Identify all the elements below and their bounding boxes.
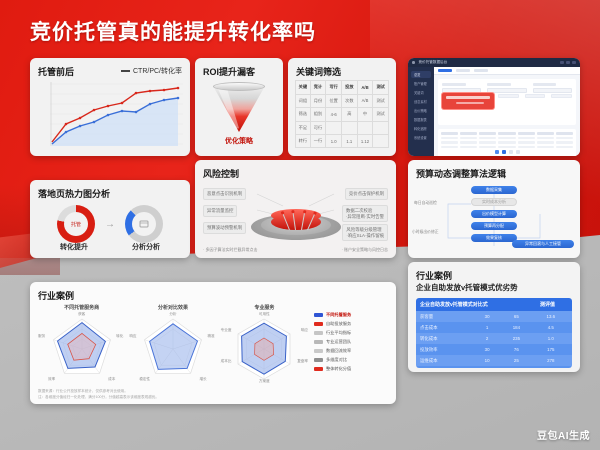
legend-label: CTR/PC/转化率 bbox=[133, 66, 182, 76]
radar-footnote-2: 注：各维度分值经归一化处理，满分100分，分值越高表示该维度表现越优。 bbox=[38, 395, 388, 400]
table-cell bbox=[358, 122, 374, 135]
field-input[interactable] bbox=[487, 88, 526, 93]
table-cell: 获客量 bbox=[420, 314, 475, 320]
radar-axis-label-2-1: 响应 bbox=[301, 328, 308, 333]
table-row: 获客量 30 65 13.6 bbox=[416, 311, 572, 322]
table-row: 词组 月份 位置 次数 A/B 测试 bbox=[295, 94, 389, 108]
funnel-title: ROI提升漏客 bbox=[203, 65, 255, 78]
funnel-caption: 优化策略 bbox=[203, 136, 275, 146]
table-cell bbox=[498, 141, 515, 144]
window-dot-icon bbox=[412, 61, 415, 64]
summary-cell bbox=[525, 94, 546, 98]
heatmap-donuts: 托管 → bbox=[30, 204, 190, 244]
table-row: 关键 竞计 写行 投放 A/B 测试 bbox=[295, 80, 389, 94]
table-cell bbox=[373, 135, 389, 147]
radar-caption-1: 分析对比效果 bbox=[127, 304, 218, 311]
risk-spark-dot bbox=[280, 211, 283, 214]
maximize-icon[interactable] bbox=[566, 61, 570, 64]
card-keyword-filter: 关键词筛选 关键 竞计 写行 投放 A/B 测试 词组 月份 位置 次数 A/B… bbox=[288, 58, 396, 156]
table-cell bbox=[498, 132, 515, 135]
risk-label-left-1: 异常流量监控 bbox=[203, 205, 237, 217]
table-cell: 测试 bbox=[373, 95, 389, 108]
tab-0[interactable] bbox=[438, 69, 452, 72]
dashboard-main bbox=[434, 67, 580, 156]
legend-label: 数据回流效率 bbox=[326, 348, 351, 354]
flow-node-2: 出价模型计算 bbox=[471, 210, 517, 218]
table-row: 投放效率 30 76 175 bbox=[416, 344, 572, 355]
table-cell bbox=[556, 137, 573, 140]
table-cell bbox=[326, 122, 342, 135]
donut-chart-conversion: 托管 bbox=[57, 205, 95, 243]
table-cell: 点击成本 bbox=[420, 325, 475, 331]
legend-dash-icon bbox=[121, 70, 130, 72]
table-cell: 1.0 bbox=[326, 135, 342, 147]
page-icon bbox=[139, 220, 149, 228]
radar-axis-label-0-3: 效率 bbox=[48, 377, 55, 382]
field-label bbox=[487, 83, 511, 86]
table-cell bbox=[460, 132, 477, 135]
flow-node-0: 数据采集 bbox=[471, 186, 517, 194]
table-cell: 转化成本 bbox=[420, 336, 475, 342]
table-cell: 1.1 bbox=[342, 135, 358, 147]
legend-label: 自助投放服务 bbox=[326, 321, 351, 327]
arrow-icon: → bbox=[105, 219, 115, 230]
table-cell bbox=[537, 132, 554, 135]
radar-axis-label-2-3: 方案度 bbox=[259, 379, 270, 384]
table-row: 转行 一行 1.0 1.1 1.12 bbox=[295, 134, 389, 148]
dashboard-titlebar: 竞价托管数据后台 bbox=[408, 58, 580, 67]
table-cell bbox=[479, 137, 496, 140]
card-dashboard-mockup: 竞价托管数据后台 总览 账户管理 关键词 创意素材 出价策略 数据报表 转化追踪… bbox=[408, 58, 580, 156]
legend-swatch-icon bbox=[314, 322, 323, 327]
legend-label: 整体转化分值 bbox=[326, 366, 351, 372]
tab-2[interactable] bbox=[474, 69, 488, 72]
field-2[interactable] bbox=[533, 83, 572, 93]
radar-axis-label-0-4: 服务 bbox=[38, 334, 45, 339]
heatmap-title: 落地页热力图分析 bbox=[38, 187, 110, 200]
dashboard-summary-row bbox=[498, 94, 572, 98]
table-cell: A/B bbox=[358, 95, 374, 108]
sidebar-item-7[interactable]: 系统设置 bbox=[411, 134, 431, 141]
donut-inner-label: 托管 bbox=[64, 212, 88, 236]
heatmap-captions: 转化提升 分析分析 bbox=[30, 242, 190, 252]
radar-svg-1 bbox=[131, 314, 215, 384]
table-header-cell: 企业自助发放v托管模式对比式 bbox=[420, 301, 527, 308]
dashboard-fields bbox=[442, 83, 572, 93]
radar-title: 行业案例 bbox=[38, 289, 74, 302]
donut-chart-analysis bbox=[125, 205, 163, 243]
risk-label-left-2: 预算波动预警机制 bbox=[203, 222, 246, 234]
table-header-cell: 测评值 bbox=[527, 301, 568, 308]
tab-1[interactable] bbox=[456, 69, 470, 72]
table-cell: 转行 bbox=[295, 135, 311, 147]
donut-inner-icon bbox=[132, 212, 156, 236]
donut-caption-0: 转化提升 bbox=[50, 242, 98, 252]
radar-axis-label-1-1: 精准 bbox=[207, 334, 214, 339]
table-cell bbox=[342, 122, 358, 135]
table-cell: 30 bbox=[475, 347, 499, 353]
radar-chart-2: 专业服务 可用性 响应 复 bbox=[219, 304, 310, 386]
table-cell bbox=[556, 141, 573, 144]
radar-chart-1: 分析对比效果 分析 精准 增长 稳定 bbox=[127, 304, 218, 386]
table-cell: 1 bbox=[475, 325, 499, 331]
field-label bbox=[533, 83, 557, 86]
table-cell: 运维成本 bbox=[420, 358, 475, 364]
table-cell: 10 bbox=[475, 358, 499, 364]
radar-charts: 不同托管服务商 获客 bbox=[36, 304, 310, 386]
radar-chart-0: 不同托管服务商 获客 bbox=[36, 304, 127, 386]
field-input[interactable] bbox=[533, 88, 572, 93]
sidebar-item-4[interactable]: 出价策略 bbox=[411, 107, 431, 114]
table-cell bbox=[479, 132, 496, 135]
table-cell: 184 bbox=[499, 325, 533, 331]
dashboard-sidebar: 总览 账户管理 关键词 创意素材 出价策略 数据报表 转化追踪 系统设置 bbox=[408, 67, 434, 156]
dashboard-table bbox=[438, 129, 576, 156]
field-label bbox=[442, 83, 466, 86]
radar-footnotes: 数据来源：行业公开投放样本统计，仅供参考对比使用。 注：各维度分值经归一化处理，… bbox=[38, 389, 388, 400]
table-row: 不足 可行 bbox=[295, 121, 389, 135]
risk-stage-graphic bbox=[251, 200, 341, 240]
risk-label-left-0: 恶意点击识别机制 bbox=[203, 188, 246, 200]
flow-node-5: 异常回滚与人工接管 bbox=[512, 240, 574, 248]
table-cell: 76 bbox=[499, 347, 533, 353]
legend-label: 行业平均指标 bbox=[326, 330, 351, 336]
flow-side-label-0: 每日自动巡检 bbox=[414, 201, 437, 206]
table-row: 筛选 组别 4-6 高 中 测试 bbox=[295, 107, 389, 121]
table-cell: 4.5 bbox=[534, 325, 568, 331]
table-cell: 65 bbox=[499, 314, 533, 320]
risk-label-right-1: 数据二次校验 ·异常阻断·实时告警 bbox=[342, 205, 388, 222]
table-cell: 4-6 bbox=[326, 108, 342, 121]
table-cell: 30 bbox=[475, 314, 499, 320]
table-cell: 13.6 bbox=[534, 314, 568, 320]
sidebar-item-1[interactable]: 账户管理 bbox=[411, 80, 431, 87]
sidebar-item-0[interactable]: 总览 bbox=[411, 71, 431, 78]
poster-root: 竞价托管真的能提升转化率吗 托管前后 CTR/PC/转化率 bbox=[0, 0, 600, 450]
card-radar-cases: 行业案例 不同托管服务商 bbox=[30, 282, 396, 404]
dashboard-brand: 竞价托管数据后台 bbox=[419, 60, 448, 65]
field-input[interactable] bbox=[442, 88, 481, 93]
table-cell: 投放效率 bbox=[420, 347, 475, 353]
highlight-line-2 bbox=[456, 102, 484, 105]
page-1-button[interactable] bbox=[502, 150, 506, 154]
minimize-icon[interactable] bbox=[560, 61, 564, 64]
industry-table-title: 行业案例 bbox=[416, 269, 452, 282]
radar-svg-2 bbox=[222, 314, 306, 384]
table-cell bbox=[518, 141, 535, 144]
table-cell bbox=[556, 146, 573, 149]
table-row: 运维成本 10 25 278 bbox=[416, 355, 572, 366]
table-cell: 25 bbox=[499, 358, 533, 364]
legend-item-2: 行业平均指标 bbox=[314, 330, 388, 336]
dashboard-window-controls[interactable] bbox=[560, 61, 576, 64]
table-cell: 175 bbox=[534, 347, 568, 353]
table-cell bbox=[498, 146, 515, 149]
table-cell: 可行 bbox=[311, 122, 327, 135]
table-cell: 测试 bbox=[373, 108, 389, 121]
keyword-table: 关键 竞计 写行 投放 A/B 测试 词组 月份 位置 次数 A/B 测试 筛选… bbox=[295, 80, 389, 148]
table-cell: 235 bbox=[499, 336, 533, 342]
page-next-button[interactable] bbox=[516, 150, 520, 154]
funnel-graphic bbox=[195, 82, 283, 137]
watermark: 豆包AI生成 bbox=[537, 427, 590, 442]
line-chart-plot bbox=[50, 82, 183, 146]
table-cell: 关键 bbox=[295, 81, 311, 94]
table-cell bbox=[479, 141, 496, 144]
radar-axis-label-2-5: 专业度 bbox=[221, 328, 232, 333]
table-cell: 高 bbox=[342, 108, 358, 121]
legend-label: 专业运营团队 bbox=[326, 339, 351, 345]
table-row bbox=[441, 132, 573, 135]
radar-caption-2: 专业服务 bbox=[219, 304, 310, 311]
radar-axis-label-0-1: 转化 bbox=[116, 334, 123, 339]
table-row bbox=[441, 137, 573, 140]
table-row bbox=[441, 141, 573, 144]
risk-spark-dot bbox=[313, 211, 316, 214]
table-cell bbox=[373, 122, 389, 135]
table-cell: 测试 bbox=[373, 81, 389, 94]
card-line-chart: 托管前后 CTR/PC/转化率 bbox=[30, 58, 190, 156]
table-header-row: 企业自助发放v托管模式对比式 测评值 bbox=[416, 298, 572, 311]
sidebar-item-2[interactable]: 关键词 bbox=[411, 89, 431, 96]
flow-node-4: 效果复核 bbox=[471, 234, 517, 242]
table-cell: 278 bbox=[534, 358, 568, 364]
table-row bbox=[441, 146, 573, 149]
highlight-line-1 bbox=[446, 96, 490, 99]
legend-swatch-icon bbox=[314, 349, 323, 354]
card-budget-algorithm: 预算动态调整算法逻辑 数据采集 实时成本分析 出价模型计算 预算再分配 效果复核… bbox=[408, 160, 580, 258]
legend-swatch-icon bbox=[314, 367, 323, 372]
dashboard-highlight-block[interactable] bbox=[442, 93, 494, 109]
table-cell bbox=[441, 132, 458, 135]
page-title: 竞价托管真的能提升转化率吗 bbox=[30, 16, 316, 46]
summary-cell bbox=[551, 94, 572, 98]
legend-label: 不同托管服务 bbox=[326, 312, 351, 318]
page-2-button[interactable] bbox=[509, 150, 513, 154]
dashboard-pagination[interactable] bbox=[441, 150, 573, 154]
dashboard-filter-panel bbox=[438, 79, 576, 125]
table-cell bbox=[460, 141, 477, 144]
table-cell bbox=[556, 132, 573, 135]
risk-label-right-2: 风险等级分级管理 ·响应SLA·操作留痕 bbox=[342, 224, 388, 241]
legend-item-5: 多维度对比 bbox=[314, 357, 388, 363]
legend-item-4: 数据回流效率 bbox=[314, 348, 388, 354]
radar-axis-label-2-0: 可用性 bbox=[259, 312, 270, 317]
legend-item-0: 不同托管服务 bbox=[314, 312, 388, 318]
page-prev-button[interactable] bbox=[495, 150, 499, 154]
field-0[interactable] bbox=[442, 83, 481, 93]
table-cell: 2 bbox=[475, 336, 499, 342]
table-cell: 次数 bbox=[342, 95, 358, 108]
table-cell: 1.0 bbox=[534, 336, 568, 342]
card-risk-control: 风险控制 恶意点击识别机制 异常流量监控 预算波动预警机制 竞价点击保护机制 bbox=[195, 160, 396, 258]
radar-axis-label-1-3: 稳定性 bbox=[139, 377, 150, 382]
card-industry-table: 行业案例 企业自助发放v托管模式优劣势 企业自助发放v托管模式对比式 测评值 获… bbox=[408, 262, 580, 372]
card-roi-funnel: ROI提升漏客 优化策略 bbox=[195, 58, 283, 156]
risk-spark-dot bbox=[291, 210, 294, 213]
radar-caption-0: 不同托管服务商 bbox=[36, 304, 127, 311]
radar-axis-label-1-0: 分析 bbox=[169, 312, 176, 317]
table-cell bbox=[460, 146, 477, 149]
flow-node-1: 实时成本分析 bbox=[471, 198, 517, 206]
table-cell bbox=[441, 146, 458, 149]
radar-axis-label-1-2: 增长 bbox=[199, 377, 206, 382]
sidebar-item-5[interactable]: 数据报表 bbox=[411, 116, 431, 123]
radar-axis-label-0-0: 获客 bbox=[78, 312, 85, 317]
dashboard-tabs bbox=[434, 67, 580, 75]
table-cell bbox=[479, 146, 496, 149]
line-chart-legend: CTR/PC/转化率 bbox=[121, 66, 182, 76]
radar-axis-label-1-4: 响应 bbox=[129, 334, 136, 339]
table-cell: 筛选 bbox=[295, 108, 311, 121]
legend-swatch-icon bbox=[314, 358, 323, 363]
radar-legend: 不同托管服务 自助投放服务 行业平均指标 专业运营团队 数据回流效率 多维度对比 bbox=[314, 312, 388, 375]
table-cell bbox=[441, 137, 458, 140]
table-cell: 竞计 bbox=[311, 81, 327, 94]
table-row: 综合评分 12 88 1.84 bbox=[416, 366, 572, 368]
budget-title: 预算动态调整算法逻辑 bbox=[416, 167, 506, 180]
flow-side-label-1: 小时级出价修正 bbox=[412, 230, 439, 235]
summary-cell bbox=[498, 94, 519, 98]
table-cell: 月份 bbox=[311, 95, 327, 108]
field-1[interactable] bbox=[487, 83, 526, 93]
table-cell: 一行 bbox=[311, 135, 327, 147]
table-cell: 位置 bbox=[326, 95, 342, 108]
line-chart-svg bbox=[50, 82, 183, 146]
risk-footer-left: · 多因子算法实时拦截异常点击 bbox=[203, 247, 257, 253]
legend-swatch-icon bbox=[314, 313, 323, 318]
risk-footer-right: · 账户安全策略与风控日志 bbox=[342, 247, 388, 253]
sidebar-item-6[interactable]: 转化追踪 bbox=[411, 125, 431, 132]
close-icon[interactable] bbox=[572, 61, 576, 64]
industry-table: 企业自助发放v托管模式对比式 测评值 获客量 30 65 13.6 点击成本 1… bbox=[416, 298, 572, 368]
risk-spark-dot bbox=[303, 210, 306, 213]
table-cell bbox=[537, 141, 554, 144]
table-cell bbox=[518, 146, 535, 149]
table-cell bbox=[537, 146, 554, 149]
keyword-title: 关键词筛选 bbox=[296, 65, 341, 78]
table-cell: 投放 bbox=[342, 81, 358, 94]
budget-flowchart: 数据采集 实时成本分析 出价模型计算 预算再分配 效果复核 异常回滚与人工接管 … bbox=[408, 184, 580, 252]
table-cell: 中 bbox=[358, 108, 374, 121]
legend-swatch-icon bbox=[314, 331, 323, 336]
table-cell: 不足 bbox=[295, 122, 311, 135]
table-cell bbox=[441, 141, 458, 144]
table-row: 转化成本 2 235 1.0 bbox=[416, 333, 572, 344]
radar-axis-label-2-4: 成本比 bbox=[221, 359, 232, 364]
flow-node-3: 预算再分配 bbox=[471, 222, 517, 230]
risk-footer: · 多因子算法实时拦截异常点击 · 账户安全策略与风控日志 bbox=[203, 247, 388, 253]
table-row: 点击成本 1 184 4.5 bbox=[416, 322, 572, 333]
risk-label-right-0: 竞价点击保护机制 bbox=[345, 188, 388, 200]
table-cell: 1.12 bbox=[358, 135, 374, 147]
funnel-rim-icon bbox=[213, 82, 265, 91]
table-cell: A/B bbox=[358, 81, 374, 94]
industry-table-subtitle: 企业自助发放v托管模式优劣势 bbox=[416, 282, 518, 293]
legend-item-1: 自助投放服务 bbox=[314, 321, 388, 327]
table-cell: 词组 bbox=[295, 95, 311, 108]
legend-item-6: 整体转化分值 bbox=[314, 366, 388, 372]
table-cell bbox=[537, 137, 554, 140]
radar-svg-0 bbox=[40, 314, 124, 384]
table-cell bbox=[460, 137, 477, 140]
table-cell: 写行 bbox=[326, 81, 342, 94]
table-cell bbox=[498, 137, 515, 140]
donut-caption-1: 分析分析 bbox=[122, 242, 170, 252]
radar-axis-label-2-2: 复盘率 bbox=[297, 359, 308, 364]
table-cell bbox=[518, 137, 535, 140]
table-cell: 组别 bbox=[311, 108, 327, 121]
legend-item-3: 专业运营团队 bbox=[314, 339, 388, 345]
sidebar-item-3[interactable]: 创意素材 bbox=[411, 98, 431, 105]
line-chart-title: 托管前后 bbox=[38, 65, 74, 78]
legend-label: 多维度对比 bbox=[326, 357, 347, 363]
table-cell bbox=[518, 132, 535, 135]
legend-swatch-icon bbox=[314, 340, 323, 345]
radar-axis-label-0-2: 成本 bbox=[108, 377, 115, 382]
card-heatmap-analysis: 落地页热力图分析 托管 → 转化提升 分析分析 bbox=[30, 180, 190, 258]
